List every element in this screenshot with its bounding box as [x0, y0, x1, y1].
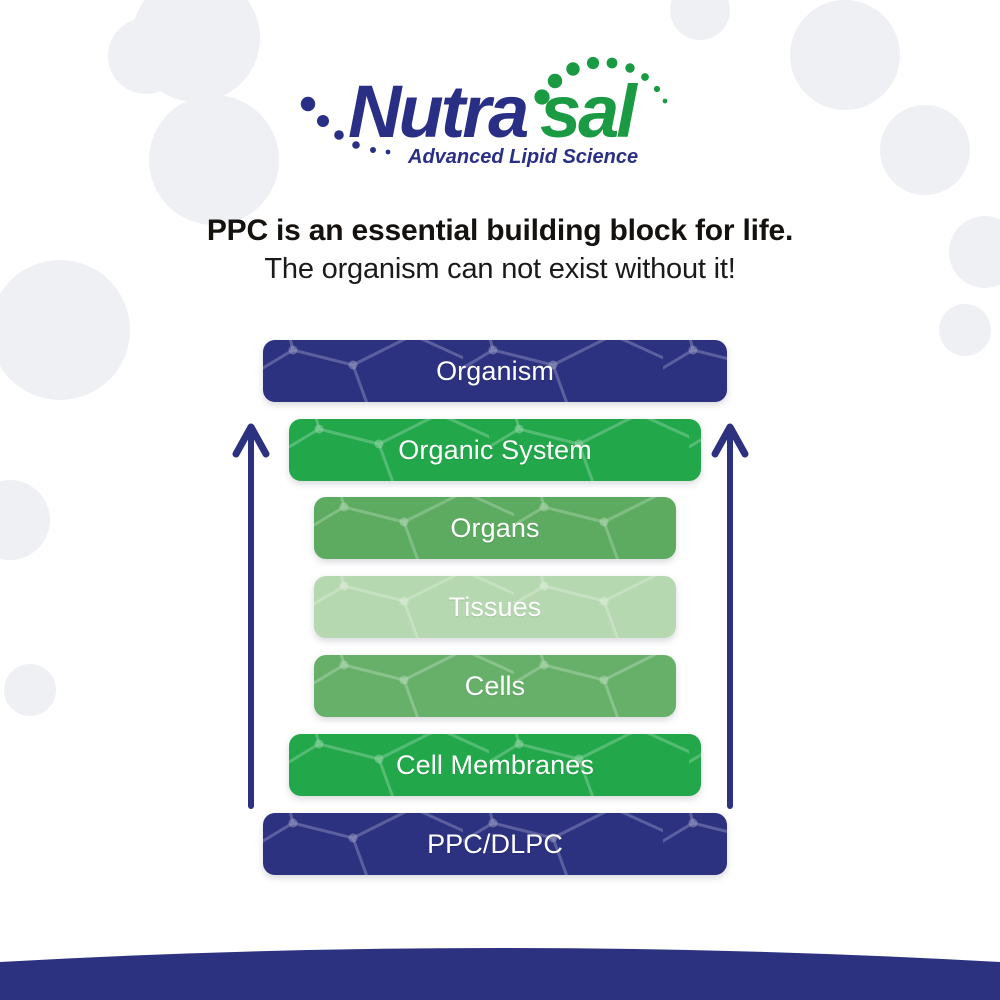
headline-line-2: The organism can not exist without it! — [0, 250, 1000, 288]
tier-organs[interactable]: Organs — [314, 497, 676, 559]
logo-word-sal: sal — [540, 70, 638, 153]
tier-label: Organism — [436, 356, 554, 387]
nutrasal-logo-mark: Nutra sal Advanced Lipid Science — [290, 42, 710, 172]
tier-label: PPC/DLPC — [427, 829, 563, 860]
tier-label: Organs — [450, 513, 539, 544]
tier-label: Organic System — [398, 435, 591, 466]
brand-logo: Nutra sal Advanced Lipid Science — [0, 42, 1000, 172]
tier-tissues[interactable]: Tissues — [314, 576, 676, 638]
tier-organic-system[interactable]: Organic System — [289, 419, 701, 481]
tier-cell-membranes[interactable]: Cell Membranes — [289, 734, 701, 796]
left-upward-arrow — [231, 418, 271, 810]
headline-line-1: PPC is an essential building block for l… — [0, 212, 1000, 250]
tier-ppc-dlpc[interactable]: PPC/DLPC — [263, 813, 727, 875]
tier-label: Tissues — [449, 592, 542, 623]
tier-label: Cells — [465, 671, 526, 702]
infographic-canvas: Nutra sal Advanced Lipid Science PPC is … — [0, 0, 1000, 1000]
tier-cells[interactable]: Cells — [314, 655, 676, 717]
right-upward-arrow — [710, 418, 750, 810]
headline: PPC is an essential building block for l… — [0, 212, 1000, 288]
tier-label: Cell Membranes — [396, 750, 594, 781]
tier-organism[interactable]: Organism — [263, 340, 727, 402]
logo-tagline: Advanced Lipid Science — [407, 146, 638, 168]
logo-word-nutra: Nutra — [348, 70, 527, 153]
footer-band — [0, 910, 1000, 1000]
